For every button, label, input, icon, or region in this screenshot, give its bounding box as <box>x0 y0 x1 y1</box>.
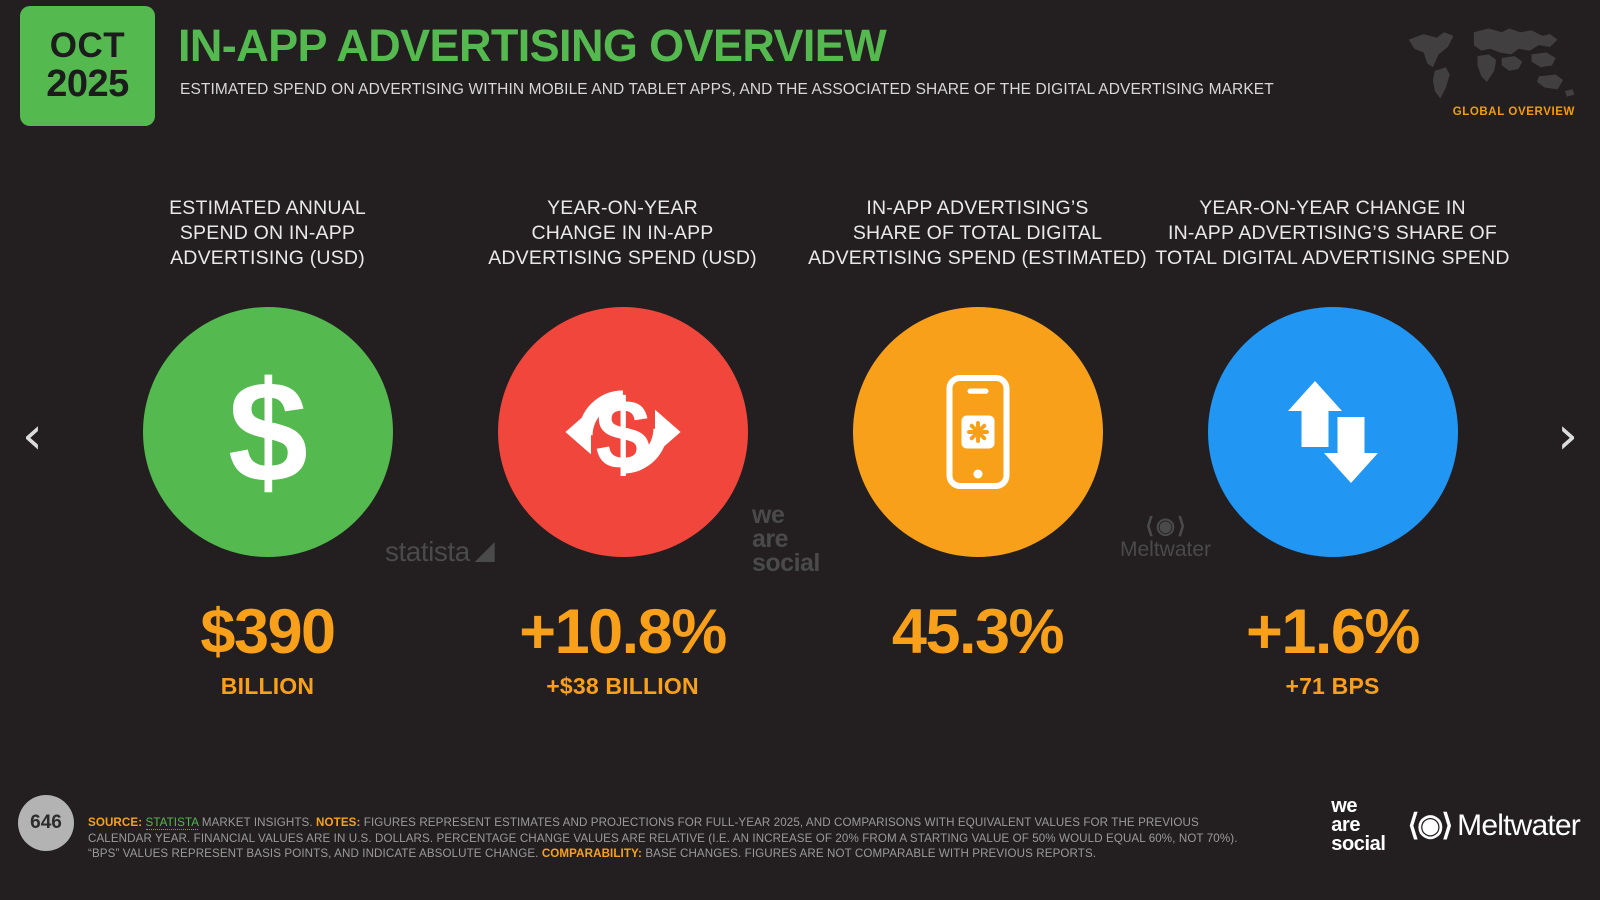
heading-line: ESTIMATED ANNUAL <box>169 196 366 221</box>
footnotes: SOURCE: STATISTA MARKET INSIGHTS. NOTES:… <box>88 815 1238 862</box>
previous-slide-arrow-icon[interactable]: ‹ <box>22 410 43 462</box>
stat-card-value: +10.8% <box>519 600 725 664</box>
we-are-social-logo: we are social <box>1331 797 1385 854</box>
heading-line: SHARE OF TOTAL DIGITAL <box>808 221 1147 246</box>
stat-card-circle <box>853 307 1103 557</box>
footer-logos: we are social ⟨◉⟩ Meltwater <box>1331 797 1580 854</box>
heading-line: ADVERTISING (USD) <box>169 246 366 271</box>
date-badge: OCT 2025 <box>20 6 155 126</box>
global-overview-label: GLOBAL OVERVIEW <box>1453 106 1575 118</box>
smartphone-app-icon <box>903 357 1053 507</box>
stat-card-heading: YEAR-ON-YEAR CHANGE IN IN-APP ADVERTISIN… <box>1155 196 1509 276</box>
date-year: 2025 <box>46 64 129 104</box>
meltwater-eye-icon: ⟨◉⟩ <box>1408 808 1452 843</box>
dollar-recycle-icon: $ <box>543 352 703 512</box>
stat-card-subvalue: BILLION <box>221 673 314 700</box>
stat-card-value: 45.3% <box>892 600 1063 664</box>
stat-card-subvalue: +$38 BILLION <box>546 673 699 700</box>
meltwater-eye-icon: ⟨◉⟩ <box>1145 516 1185 536</box>
heading-line: IN-APP ADVERTISING’S SHARE OF <box>1155 221 1509 246</box>
svg-text:$: $ <box>227 357 307 507</box>
heading-line: CHANGE IN IN-APP <box>488 221 757 246</box>
stat-card-circle <box>1208 307 1458 557</box>
heading-line: IN-APP ADVERTISING’S <box>808 196 1147 221</box>
wm-line: social <box>752 551 820 575</box>
up-down-arrows-icon <box>1258 357 1408 507</box>
stat-cards-row: ESTIMATED ANNUAL SPEND ON IN-APP ADVERTI… <box>90 196 1510 736</box>
wm-line: are <box>752 527 820 551</box>
heading-line: SPEND ON IN-APP <box>169 221 366 246</box>
comparability-text: BASE CHANGES. FIGURES ARE NOT COMPARABLE… <box>645 847 1096 860</box>
stat-card-annual-spend: ESTIMATED ANNUAL SPEND ON IN-APP ADVERTI… <box>90 196 445 736</box>
page-number: 646 <box>30 812 62 834</box>
page-number-badge: 646 <box>18 795 74 851</box>
dollar-sign-icon: $ <box>193 357 343 507</box>
slide-root: OCT 2025 IN-APP ADVERTISING OVERVIEW EST… <box>0 0 1600 900</box>
stat-card-subvalue: +71 BPS <box>1285 673 1379 700</box>
comparability-label: COMPARABILITY: <box>542 847 642 860</box>
date-month: OCT <box>50 28 125 64</box>
stat-card-heading: IN-APP ADVERTISING’S SHARE OF TOTAL DIGI… <box>808 196 1147 276</box>
svg-text:$: $ <box>595 380 650 491</box>
source-name-link[interactable]: STATISTA <box>146 816 199 830</box>
meltwater-logo: ⟨◉⟩ Meltwater <box>1408 808 1580 843</box>
stat-card-value: $390 <box>200 600 334 664</box>
logo-line: social <box>1331 835 1385 854</box>
statista-watermark-text: statista <box>385 536 470 568</box>
world-map-icon <box>1392 12 1578 104</box>
heading-line: ADVERTISING SPEND (USD) <box>488 246 757 271</box>
statista-mark-icon <box>475 542 495 562</box>
stat-card-circle: $ <box>498 307 748 557</box>
page-title: IN-APP ADVERTISING OVERVIEW <box>178 20 886 72</box>
meltwater-logo-text: Meltwater <box>1457 809 1580 843</box>
statista-watermark: statista <box>385 536 495 568</box>
heading-line: TOTAL DIGITAL ADVERTISING SPEND <box>1155 246 1509 271</box>
stat-card-heading: ESTIMATED ANNUAL SPEND ON IN-APP ADVERTI… <box>169 196 366 276</box>
notes-label: NOTES: <box>316 816 360 829</box>
heading-line: YEAR-ON-YEAR <box>488 196 757 221</box>
page-subtitle: ESTIMATED SPEND ON ADVERTISING WITHIN MO… <box>180 81 1274 99</box>
meltwater-watermark: ⟨◉⟩ Meltwater <box>1120 516 1211 562</box>
source-label: SOURCE: <box>88 816 142 829</box>
stat-card-heading: YEAR-ON-YEAR CHANGE IN IN-APP ADVERTISIN… <box>488 196 757 276</box>
stat-card-value: +1.6% <box>1246 600 1419 664</box>
stat-card-yoy-change-share: YEAR-ON-YEAR CHANGE IN IN-APP ADVERTISIN… <box>1155 196 1510 736</box>
wm-line: we <box>752 503 820 527</box>
source-rest: MARKET INSIGHTS. <box>202 816 313 829</box>
we-are-social-watermark: we are social <box>752 503 820 575</box>
stat-card-circle: $ <box>143 307 393 557</box>
meltwater-watermark-text: Meltwater <box>1120 538 1211 562</box>
heading-line: YEAR-ON-YEAR CHANGE IN <box>1155 196 1509 221</box>
stat-card-share-of-digital: IN-APP ADVERTISING’S SHARE OF TOTAL DIGI… <box>800 196 1155 736</box>
next-slide-arrow-icon[interactable]: › <box>1557 410 1578 462</box>
heading-line: ADVERTISING SPEND (ESTIMATED) <box>808 246 1147 271</box>
stat-card-yoy-change-spend: YEAR-ON-YEAR CHANGE IN IN-APP ADVERTISIN… <box>445 196 800 736</box>
